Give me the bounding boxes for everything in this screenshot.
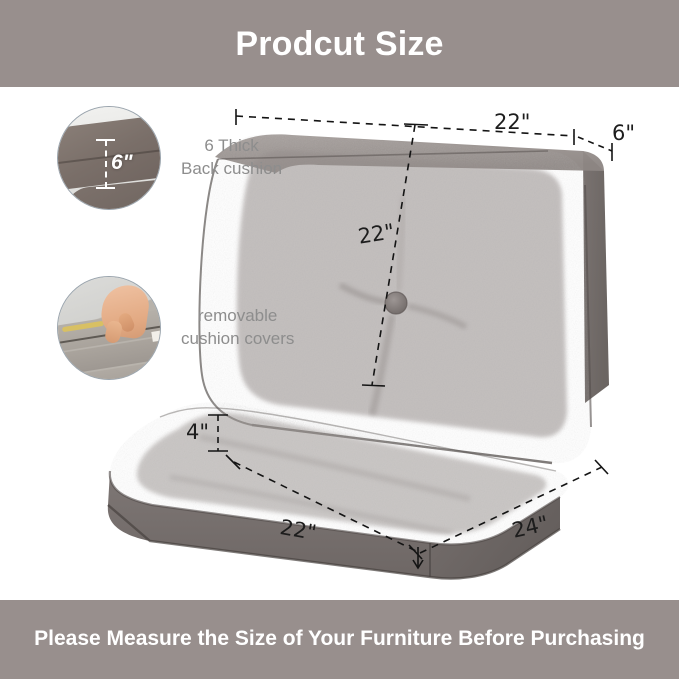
feature-label-back-cushion: 6 Thick Back cushion <box>181 135 282 181</box>
feature-label-line1: 6 Thick <box>181 135 282 158</box>
feature-label-line1: removable <box>181 305 294 328</box>
inset-dimension-value: 6" <box>111 151 133 175</box>
footer-message: Please Measure the Size of Your Furnitur… <box>8 626 671 652</box>
dimension-back-depth: 6" <box>612 121 635 145</box>
page-title: Prodcut Size <box>235 27 443 61</box>
feature-label-line2: Back cushion <box>181 158 282 181</box>
header-banner: Prodcut Size <box>0 0 679 87</box>
feature-label-removable-covers: removable cushion covers <box>181 305 294 351</box>
feature-removable-covers: removable cushion covers <box>57 276 294 380</box>
inset-dimension-cap-bottom <box>96 187 115 189</box>
inset-dimension-line <box>105 140 107 188</box>
inset-photo-zipper <box>57 276 161 380</box>
dimension-seat-thickness: 4" <box>186 420 209 444</box>
dimension-back-top-width: 22" <box>494 110 530 134</box>
feature-label-line2: cushion covers <box>181 328 294 351</box>
inset-photo-back-cushion-edge: 6" <box>57 106 161 210</box>
footer-banner: Please Measure the Size of Your Furnitur… <box>0 600 679 679</box>
product-size-infographic: Prodcut Size <box>0 0 679 679</box>
fabric-tag <box>151 330 161 342</box>
feature-back-cushion-thickness: 6" 6 Thick Back cushion <box>57 106 282 210</box>
